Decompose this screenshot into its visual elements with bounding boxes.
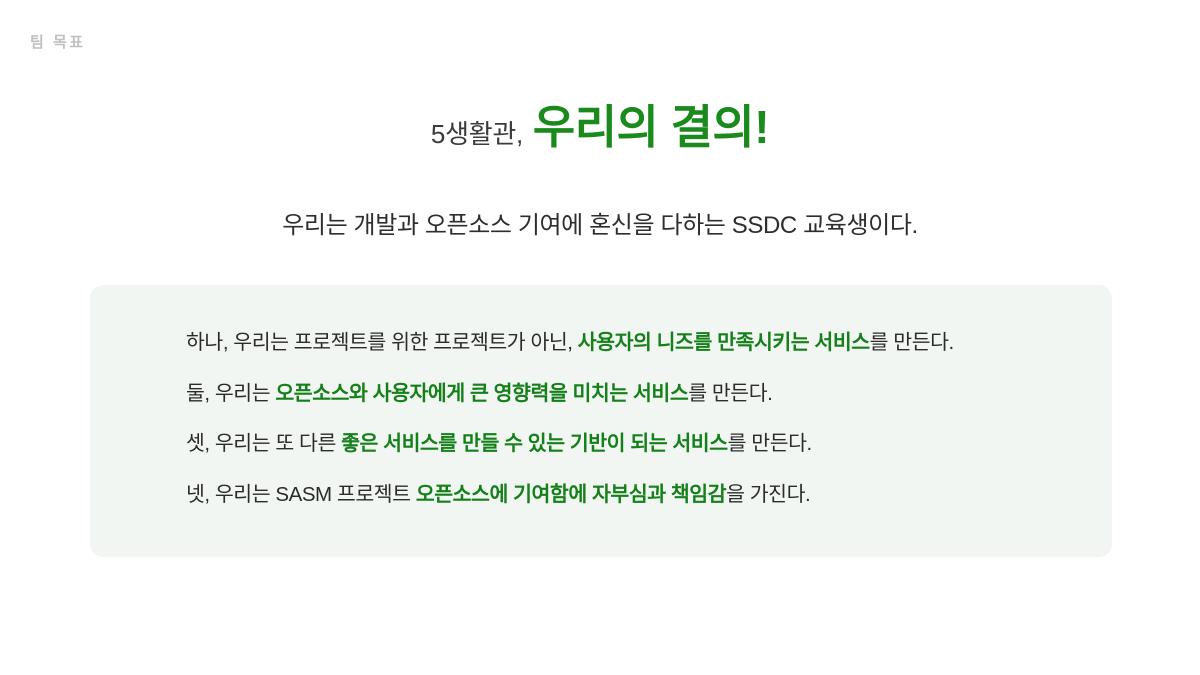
pledge-highlight: 사용자의 니즈를 만족시키는 서비스 bbox=[578, 331, 870, 354]
pledge-lead: 셋, 우리는 또 다른 bbox=[186, 432, 341, 455]
pledge-tail: 를 만든다. bbox=[870, 331, 954, 354]
slide-canvas: 팀 목표 5생활관,우리의 결의! 우리는 개발과 오픈소스 기여에 혼신을 다… bbox=[0, 0, 1200, 675]
page-title-prefix: 5생활관, bbox=[431, 119, 523, 149]
pledge-item: 둘, 우리는 오픈소스와 사용자에게 큰 영향력을 미치는 서비스를 만든다. bbox=[186, 384, 1112, 405]
pledge-highlight: 오픈소스와 사용자에게 큰 영향력을 미치는 서비스 bbox=[275, 382, 688, 405]
pledge-card: 하나, 우리는 프로젝트를 위한 프로젝트가 아닌, 사용자의 니즈를 만족시키… bbox=[90, 285, 1112, 557]
pledge-tail: 을 가진다. bbox=[726, 483, 810, 506]
page-title: 5생활관,우리의 결의! bbox=[0, 104, 1200, 150]
pledge-tail: 를 만든다. bbox=[688, 382, 772, 405]
page-subtitle: 우리는 개발과 오픈소스 기여에 혼신을 다하는 SSDC 교육생이다. bbox=[0, 209, 1200, 243]
pledge-item: 셋, 우리는 또 다른 좋은 서비스를 만들 수 있는 기반이 되는 서비스를 … bbox=[186, 434, 1112, 455]
pledge-highlight: 오픈소스에 기여함에 자부심과 책임감 bbox=[416, 483, 726, 506]
slide-kicker-label: 팀 목표 bbox=[30, 33, 86, 53]
pledge-lead: 둘, 우리는 bbox=[186, 382, 275, 405]
pledge-lead: 넷, 우리는 SASM 프로젝트 bbox=[186, 483, 416, 506]
pledge-item: 넷, 우리는 SASM 프로젝트 오픈소스에 기여함에 자부심과 책임감을 가진… bbox=[186, 485, 1112, 506]
pledge-item: 하나, 우리는 프로젝트를 위한 프로젝트가 아닌, 사용자의 니즈를 만족시키… bbox=[186, 333, 1112, 354]
pledge-tail: 를 만든다. bbox=[728, 432, 812, 455]
pledge-lead: 하나, 우리는 프로젝트를 위한 프로젝트가 아닌, bbox=[186, 331, 578, 354]
pledge-highlight: 좋은 서비스를 만들 수 있는 기반이 되는 서비스 bbox=[341, 432, 728, 455]
page-title-accent: 우리의 결의! bbox=[533, 101, 769, 153]
